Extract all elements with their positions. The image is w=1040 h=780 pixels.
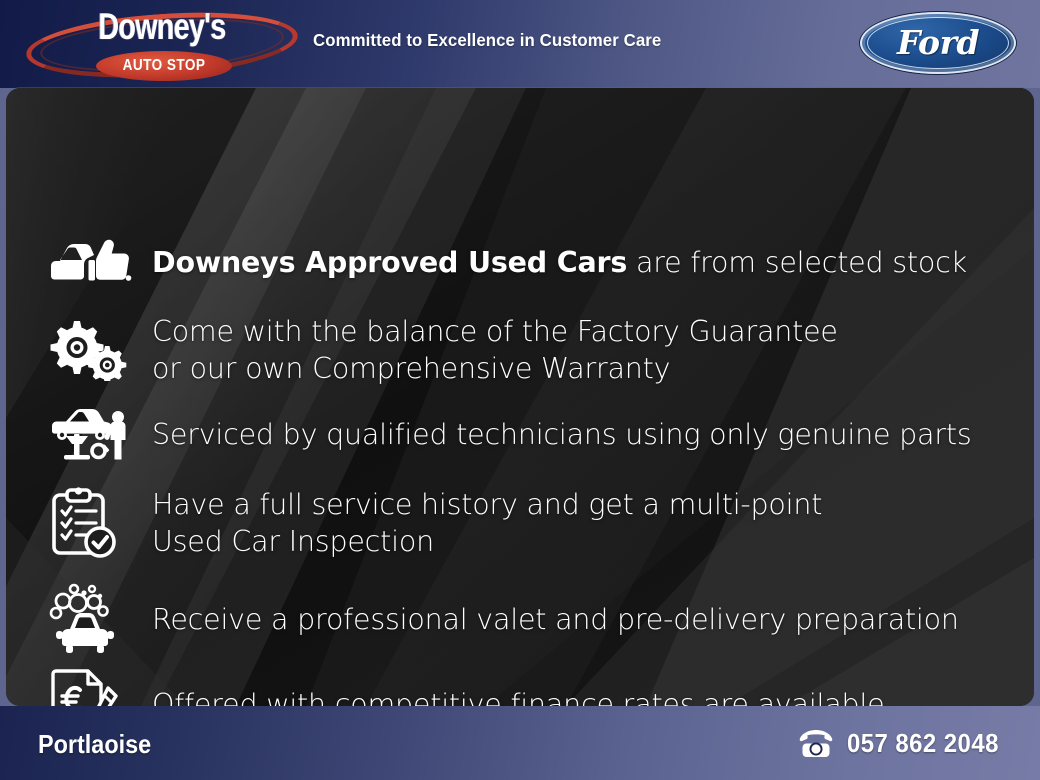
logo-brand-name: Downey's [50, 8, 275, 45]
banner-header: Downey's AUTO STOP Committed to Excellen… [0, 0, 1040, 88]
euro-contract-pen-icon [48, 668, 152, 706]
feature-text: Come with the balance of the Factory Gua… [152, 313, 838, 387]
feature-text-normal: are from selected stock [627, 246, 967, 279]
feature-row: Downeys Approved Used Cars are from sele… [48, 236, 967, 288]
feature-text: Have a full service history and get a mu… [152, 486, 822, 560]
feature-text: Downeys Approved Used Cars are from sele… [152, 244, 967, 281]
feature-row: Have a full service history and get a mu… [48, 486, 822, 560]
features-panel: Downeys Approved Used Cars are from sele… [6, 88, 1034, 706]
downeys-auto-stop-logo[interactable]: Downey's AUTO STOP [18, 4, 306, 86]
feature-text: Receive a professional valet and pre-del… [152, 601, 959, 638]
dealer-promo-banner: Downey's AUTO STOP Committed to Excellen… [0, 0, 1040, 780]
footer-contact[interactable]: 057 862 2048 [799, 728, 1012, 759]
feature-row: Come with the balance of the Factory Gua… [48, 313, 838, 387]
footer-location: Portlaoise [38, 729, 151, 760]
telephone-icon [799, 729, 833, 759]
header-tagline: Committed to Excellence in Customer Care [313, 30, 661, 51]
ford-wordmark: Ford [860, 23, 1016, 62]
car-thumbs-up-icon [48, 236, 152, 288]
feature-text-line: Have a full service history and get a mu… [152, 486, 822, 523]
clipboard-checklist-icon [48, 487, 152, 559]
ford-logo[interactable]: Ford [860, 12, 1016, 74]
car-wash-bubbles-icon [48, 583, 152, 655]
feature-row: Offered with competitive finance rates a… [48, 668, 884, 706]
feature-row: Receive a professional valet and pre-del… [48, 583, 959, 655]
gears-icon [48, 319, 152, 381]
logo-brand-sub: AUTO STOP [106, 56, 222, 75]
feature-row: Serviced by qualified technicians using … [48, 406, 971, 462]
feature-text-line: or our own Comprehensive Warranty [152, 350, 838, 387]
feature-text: Offered with competitive finance rates a… [152, 686, 884, 707]
feature-text: Serviced by qualified technicians using … [152, 416, 971, 453]
feature-text-bold: Downeys Approved Used Cars [152, 246, 627, 279]
feature-text-line: Used Car Inspection [152, 523, 822, 560]
car-lift-mechanic-icon [48, 406, 152, 462]
footer-phone-number: 057 862 2048 [847, 728, 999, 759]
banner-footer: Portlaoise 057 862 2048 [0, 706, 1040, 780]
feature-text-line: Come with the balance of the Factory Gua… [152, 313, 838, 350]
features-list: Downeys Approved Used Cars are from sele… [6, 88, 1034, 706]
